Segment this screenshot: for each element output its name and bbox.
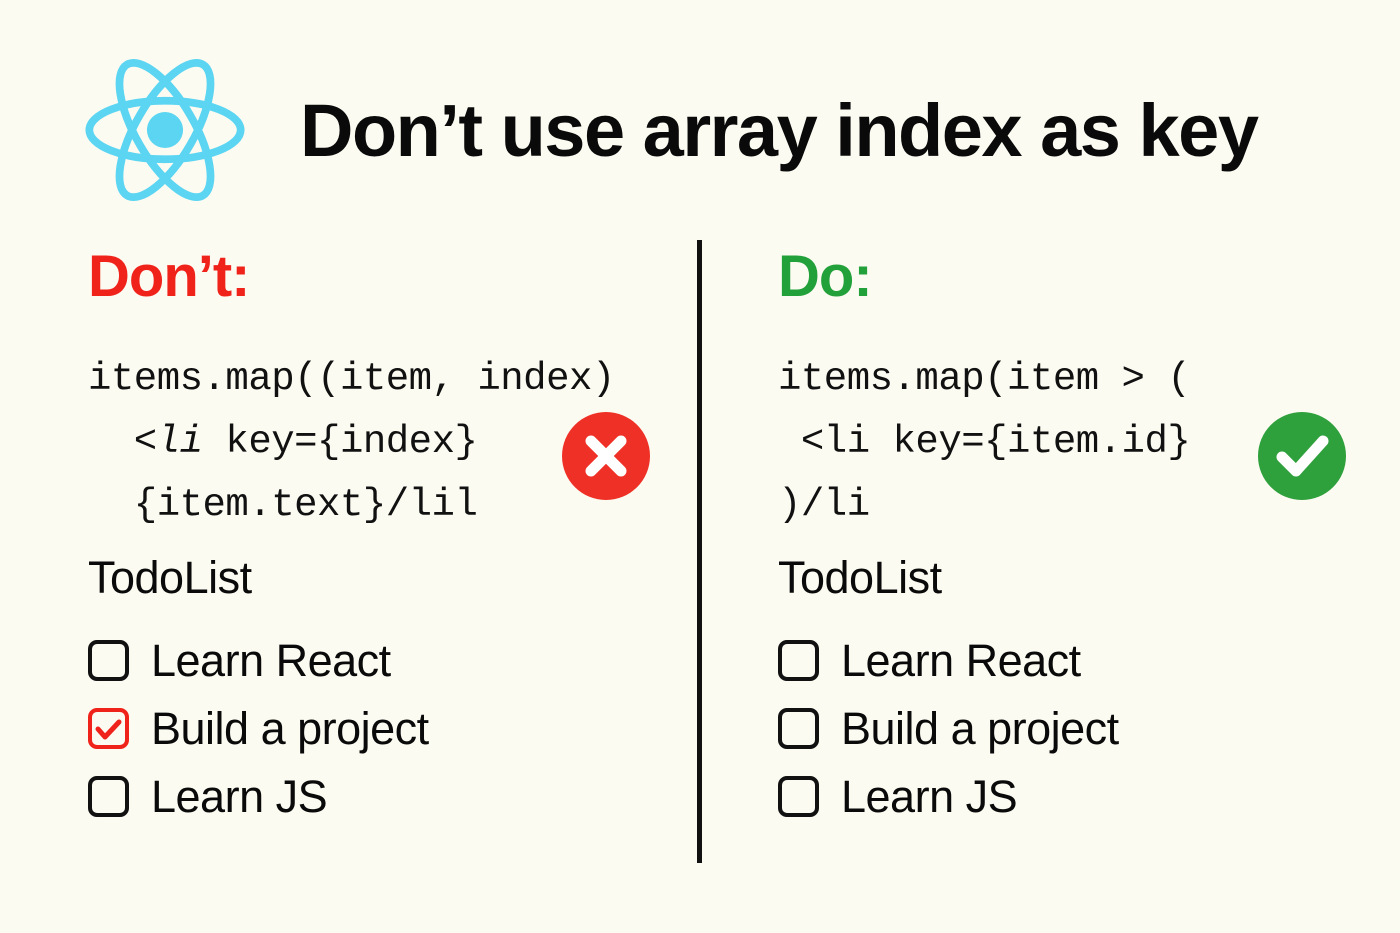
- checkbox-checked-icon[interactable]: [88, 708, 129, 749]
- todo-list-title: TodoList: [778, 555, 1378, 600]
- todo-row[interactable]: Learn JS: [88, 762, 688, 830]
- header: Don’t use array index as key: [0, 0, 1400, 236]
- code-line: items.map(item > (: [778, 348, 1378, 411]
- todo-item-label: Learn React: [841, 638, 1081, 683]
- code-block-do: items.map(item > ( <li key={item.id} )/l…: [778, 348, 1378, 533]
- code-block-dont: items.map((item, index) <li key={index} …: [88, 348, 688, 533]
- checkbox-unchecked-icon[interactable]: [778, 776, 819, 817]
- checkbox-unchecked-icon[interactable]: [88, 776, 129, 817]
- code-line-text: {item.text}/lil: [88, 483, 477, 527]
- page-title: Don’t use array index as key: [300, 78, 1330, 182]
- cross-circle-icon: [562, 412, 650, 500]
- column-do: Do: items.map(item > ( <li key={item.id}…: [778, 248, 1378, 830]
- slide-root: Don’t use array index as key Don’t: item…: [0, 0, 1400, 933]
- column-dont: Don’t: items.map((item, index) <li key={…: [88, 248, 688, 830]
- todo-row[interactable]: Learn React: [778, 626, 1378, 694]
- todo-item-label: Build a project: [841, 706, 1119, 751]
- verdict-label-do: Do:: [778, 248, 1378, 320]
- todo-row[interactable]: Build a project: [88, 694, 688, 762]
- code-line-text: <li key={item.id}: [778, 420, 1190, 464]
- todo-list-title: TodoList: [88, 555, 688, 600]
- verdict-label-dont: Don’t:: [88, 248, 688, 320]
- code-line-text: )/li: [778, 483, 870, 527]
- code-line-text: items.map(item > (: [778, 357, 1190, 401]
- todo-list-do: TodoList Learn React Build a project Lea…: [778, 555, 1378, 830]
- checkbox-unchecked-icon[interactable]: [778, 708, 819, 749]
- code-line-text: items.map((item, index): [88, 357, 615, 401]
- todo-list-dont: TodoList Learn React Build a project Lea…: [88, 555, 688, 830]
- checkbox-unchecked-icon[interactable]: [778, 640, 819, 681]
- todo-item-label: Build a project: [151, 706, 429, 751]
- check-circle-icon: [1258, 412, 1346, 500]
- code-line-prefix: <: [88, 420, 157, 464]
- code-line-italic: li: [157, 420, 203, 464]
- todo-item-label: Learn JS: [841, 774, 1017, 819]
- todo-item-label: Learn JS: [151, 774, 327, 819]
- checkbox-unchecked-icon[interactable]: [88, 640, 129, 681]
- todo-item-label: Learn React: [151, 638, 391, 683]
- column-divider: [697, 240, 702, 863]
- todo-row[interactable]: Learn React: [88, 626, 688, 694]
- react-logo-icon: [76, 44, 254, 216]
- code-line-suffix: key={index}: [203, 420, 478, 464]
- todo-row[interactable]: Build a project: [778, 694, 1378, 762]
- todo-row[interactable]: Learn JS: [778, 762, 1378, 830]
- code-line: items.map((item, index): [88, 348, 688, 411]
